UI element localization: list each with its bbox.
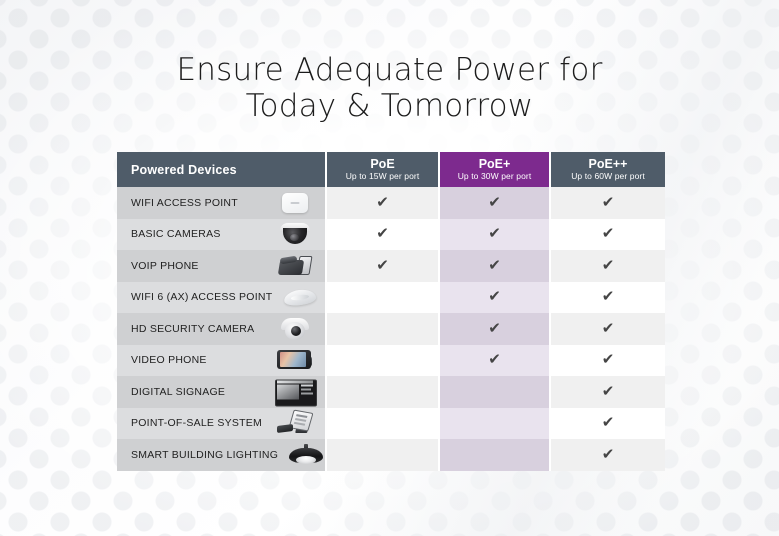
table-row: VOIP PHONE✔✔✔ [117, 250, 665, 282]
high-bay-light-icon [284, 441, 328, 469]
cell-poe-plus-plus: ✔ [550, 219, 665, 251]
device-cell: VIDEO PHONE [117, 345, 326, 377]
header-poe-plus-title: PoE+ [440, 157, 549, 171]
check-icon: ✔ [602, 258, 615, 273]
table-row: DIGITAL SIGNAGE✔✔✔ [117, 376, 665, 408]
check-icon: ✔ [602, 384, 615, 399]
device-label: POINT-OF-SALE SYSTEM [131, 417, 262, 429]
cell-poe-plus-plus: ✔ [550, 187, 665, 219]
point-of-sale-icon [273, 409, 317, 437]
table-row: VIDEO PHONE✔✔✔ [117, 345, 665, 377]
table-row: WIFI 6 (AX) ACCESS POINT✔✔✔ [117, 282, 665, 314]
cell-poe: ✔ [326, 219, 439, 251]
device-label: WIFI 6 (AX) ACCESS POINT [131, 291, 272, 303]
header-poe-plus-plus-title: PoE++ [551, 157, 665, 171]
turret-camera-icon [273, 315, 317, 343]
check-icon: ✔ [602, 195, 615, 210]
header-powered-devices: Powered Devices [117, 152, 326, 187]
check-icon: ✔ [488, 321, 501, 336]
cell-poe-plus-plus: ✔ [550, 250, 665, 282]
cell-poe-plus-plus: ✔ [550, 376, 665, 408]
header-poe-plus: PoE+ Up to 30W per port [439, 152, 550, 187]
check-icon: ✔ [488, 258, 501, 273]
device-label: BASIC CAMERAS [131, 228, 221, 240]
device-label: VOIP PHONE [131, 260, 199, 272]
cell-poe-plus: ✔ [439, 345, 550, 377]
cell-poe-plus-plus: ✔ [550, 313, 665, 345]
device-cell: BASIC CAMERAS [117, 219, 326, 251]
wifi6-access-point-icon [278, 283, 322, 311]
cell-poe: ✔ [326, 282, 439, 314]
device-label: HD SECURITY CAMERA [131, 323, 254, 335]
page-title-line-2: Today & Tomorrow [0, 88, 779, 124]
table-row: BASIC CAMERAS✔✔✔ [117, 219, 665, 251]
cell-poe: ✔ [326, 376, 439, 408]
check-icon: ✔ [602, 447, 615, 462]
device-label: VIDEO PHONE [131, 354, 207, 366]
cell-poe-plus: ✔ [439, 313, 550, 345]
cell-poe: ✔ [326, 313, 439, 345]
cell-poe-plus-plus: ✔ [550, 345, 665, 377]
check-icon: ✔ [602, 289, 615, 304]
cell-poe: ✔ [326, 187, 439, 219]
device-cell: WIFI ACCESS POINT [117, 187, 326, 219]
check-icon: ✔ [602, 321, 615, 336]
table-row: POINT-OF-SALE SYSTEM✔✔✔ [117, 408, 665, 440]
device-cell: DIGITAL SIGNAGE [117, 376, 326, 408]
header-poe-plus-plus-subtitle: Up to 60W per port [551, 171, 665, 182]
device-label: DIGITAL SIGNAGE [131, 386, 225, 398]
dome-camera-icon [273, 220, 317, 248]
check-icon: ✔ [488, 289, 501, 304]
table-row: WIFI ACCESS POINT✔✔✔ [117, 187, 665, 219]
poe-comparison-table: Powered Devices PoE Up to 15W per port P… [117, 152, 665, 471]
device-label: SMART BUILDING LIGHTING [131, 449, 278, 461]
check-icon: ✔ [376, 258, 389, 273]
cell-poe: ✔ [326, 250, 439, 282]
device-cell: HD SECURITY CAMERA [117, 313, 326, 345]
device-cell: SMART BUILDING LIGHTING [117, 439, 326, 471]
page-title-line-1: Ensure Adequate Power for [0, 52, 779, 88]
cell-poe-plus-plus: ✔ [550, 282, 665, 314]
cell-poe-plus: ✔ [439, 219, 550, 251]
header-poe-subtitle: Up to 15W per port [327, 171, 438, 182]
cell-poe-plus: ✔ [439, 439, 550, 471]
table-row: HD SECURITY CAMERA✔✔✔ [117, 313, 665, 345]
wifi-access-point-icon [273, 189, 317, 217]
check-icon: ✔ [488, 352, 501, 367]
device-cell: WIFI 6 (AX) ACCESS POINT [117, 282, 326, 314]
check-icon: ✔ [488, 195, 501, 210]
cell-poe-plus-plus: ✔ [550, 408, 665, 440]
check-icon: ✔ [602, 226, 615, 241]
check-icon: ✔ [602, 352, 615, 367]
digital-signage-icon [273, 378, 317, 406]
header-poe: PoE Up to 15W per port [326, 152, 439, 187]
cell-poe-plus: ✔ [439, 187, 550, 219]
header-poe-plus-plus: PoE++ Up to 60W per port [550, 152, 665, 187]
check-icon: ✔ [488, 226, 501, 241]
cell-poe-plus: ✔ [439, 282, 550, 314]
table-row: SMART BUILDING LIGHTING✔✔✔ [117, 439, 665, 471]
header-poe-title: PoE [327, 157, 438, 171]
cell-poe-plus: ✔ [439, 376, 550, 408]
check-icon: ✔ [602, 415, 615, 430]
device-label: WIFI ACCESS POINT [131, 197, 238, 209]
device-cell: POINT-OF-SALE SYSTEM [117, 408, 326, 440]
cell-poe: ✔ [326, 345, 439, 377]
table-header-row: Powered Devices PoE Up to 15W per port P… [117, 152, 665, 187]
cell-poe-plus: ✔ [439, 408, 550, 440]
cell-poe-plus: ✔ [439, 250, 550, 282]
page-title: Ensure Adequate Power for Today & Tomorr… [0, 52, 779, 124]
device-cell: VOIP PHONE [117, 250, 326, 282]
cell-poe-plus-plus: ✔ [550, 439, 665, 471]
voip-phone-icon [273, 252, 317, 280]
cell-poe: ✔ [326, 408, 439, 440]
check-icon: ✔ [376, 226, 389, 241]
video-phone-icon [273, 346, 317, 374]
cell-poe: ✔ [326, 439, 439, 471]
check-icon: ✔ [376, 195, 389, 210]
header-poe-plus-subtitle: Up to 30W per port [440, 171, 549, 182]
